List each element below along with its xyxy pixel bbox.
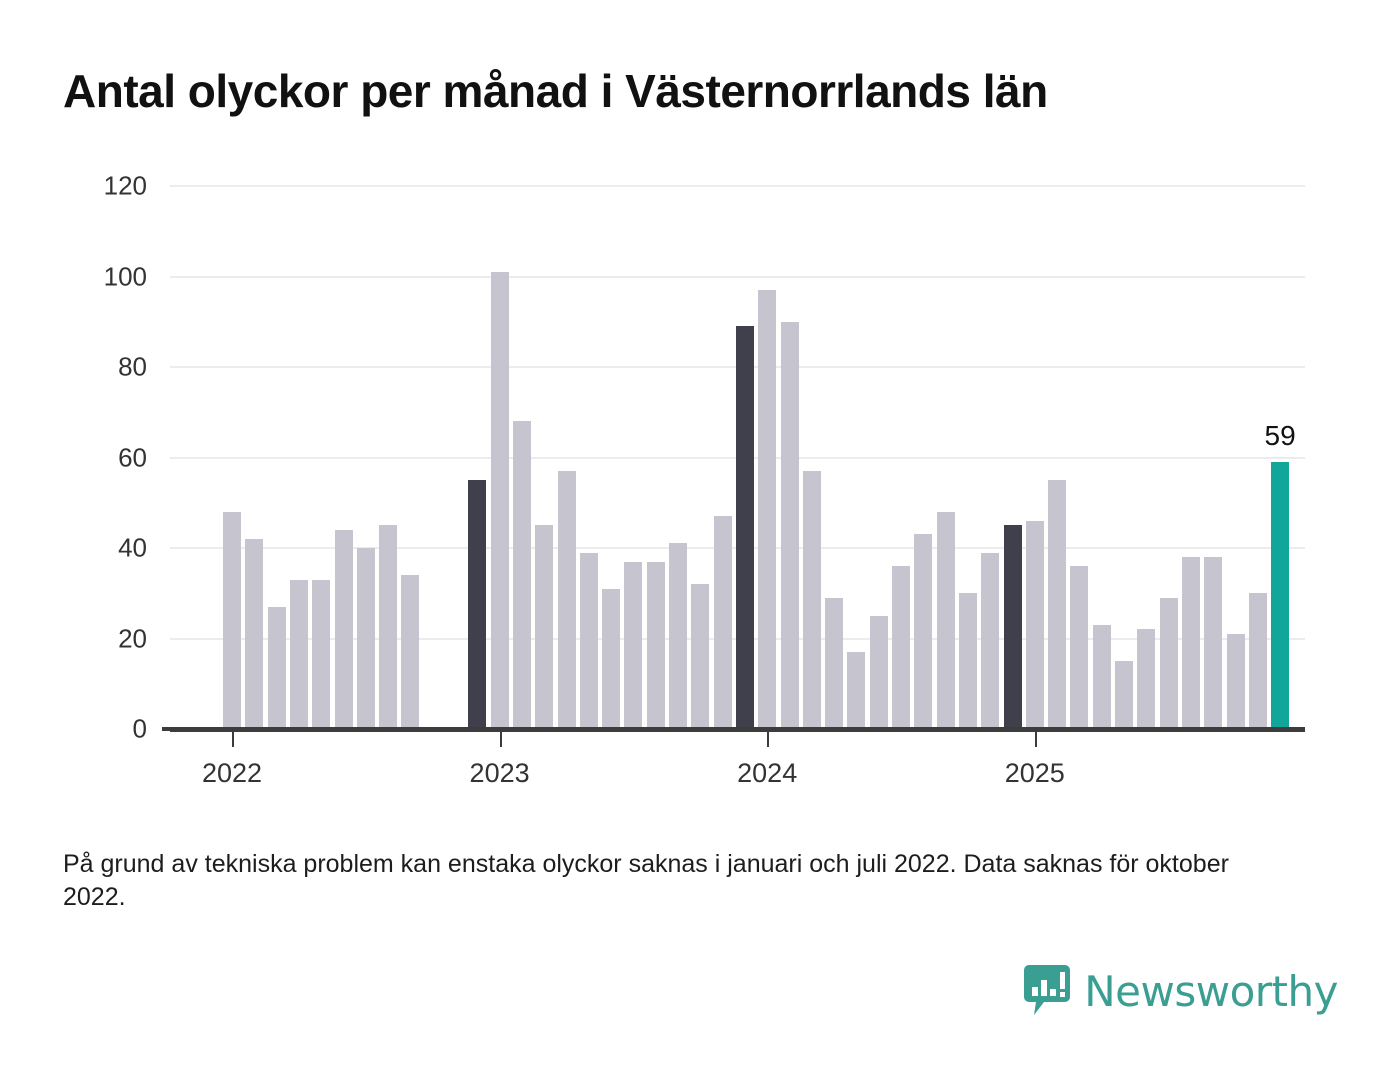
newsworthy-bar-chart-speech-bubble-icon xyxy=(1024,965,1070,1017)
bar-2024-12[interactable] xyxy=(1004,525,1022,729)
bar-2025-05[interactable] xyxy=(1115,661,1133,729)
bar-2024-08[interactable] xyxy=(914,534,932,729)
bar-2025-12[interactable] xyxy=(1271,462,1289,729)
x-axis-tick-label-2024: 2024 xyxy=(737,758,797,789)
newsworthy-logo: Newsworthy xyxy=(1024,965,1338,1017)
bar-2024-02[interactable] xyxy=(781,322,799,729)
chart-page: Antal olyckor per månad i Västernorrland… xyxy=(0,0,1400,1080)
bar-2024-01[interactable] xyxy=(758,290,776,729)
bar-2024-05[interactable] xyxy=(847,652,865,729)
bar-chart: 020406080100120 59 2022202320242025 xyxy=(0,150,1400,800)
bar-2023-07[interactable] xyxy=(624,562,642,729)
y-axis-tick-label: 40 xyxy=(118,533,147,564)
bar-2022-07[interactable] xyxy=(357,548,375,729)
bar-value-label: 59 xyxy=(1265,420,1296,452)
bar-2025-04[interactable] xyxy=(1093,625,1111,729)
bar-2025-01[interactable] xyxy=(1026,521,1044,729)
bar-series xyxy=(170,186,1305,729)
bar-2024-03[interactable] xyxy=(803,471,821,729)
x-axis-tick xyxy=(767,729,769,747)
bar-2023-09[interactable] xyxy=(669,543,687,729)
y-axis-tick-label: 120 xyxy=(104,171,147,202)
bar-2025-08[interactable] xyxy=(1182,557,1200,729)
bar-2022-06[interactable] xyxy=(335,530,353,729)
bar-2023-12[interactable] xyxy=(736,326,754,729)
y-axis-tick-label: 60 xyxy=(118,442,147,473)
bar-2025-02[interactable] xyxy=(1048,480,1066,729)
bar-2022-12[interactable] xyxy=(468,480,486,729)
bar-2025-06[interactable] xyxy=(1137,629,1155,729)
y-axis-tick-label: 80 xyxy=(118,352,147,383)
brand-name: Newsworthy xyxy=(1084,967,1338,1016)
plot-area: 020406080100120 59 2022202320242025 xyxy=(170,186,1305,729)
y-axis-tick-label: 0 xyxy=(133,714,147,745)
bar-2025-10[interactable] xyxy=(1227,634,1245,729)
bar-2025-07[interactable] xyxy=(1160,598,1178,729)
bar-2022-09[interactable] xyxy=(401,575,419,729)
bar-2024-07[interactable] xyxy=(892,566,910,729)
bar-2025-09[interactable] xyxy=(1204,557,1222,729)
bar-2023-08[interactable] xyxy=(647,562,665,729)
x-axis-tick-label-2023: 2023 xyxy=(470,758,530,789)
x-axis-tick-label-2025: 2025 xyxy=(1005,758,1065,789)
x-axis-line xyxy=(162,727,1305,731)
y-axis-tick-label: 100 xyxy=(104,261,147,292)
bar-2023-01[interactable] xyxy=(491,272,509,729)
bar-2023-02[interactable] xyxy=(513,421,531,729)
x-axis-tick xyxy=(500,729,502,747)
bar-2022-08[interactable] xyxy=(379,525,397,729)
bar-2023-10[interactable] xyxy=(691,584,709,729)
bar-2023-05[interactable] xyxy=(580,553,598,729)
bar-2022-01[interactable] xyxy=(223,512,241,729)
bar-2024-11[interactable] xyxy=(981,553,999,729)
x-axis-tick xyxy=(1035,729,1037,747)
bar-2023-03[interactable] xyxy=(535,525,553,729)
bar-2024-10[interactable] xyxy=(959,593,977,729)
bar-2025-03[interactable] xyxy=(1070,566,1088,729)
bar-2024-04[interactable] xyxy=(825,598,843,729)
bar-2022-03[interactable] xyxy=(268,607,286,729)
bar-2024-06[interactable] xyxy=(870,616,888,729)
x-axis-tick xyxy=(232,729,234,747)
bar-2023-11[interactable] xyxy=(714,516,732,729)
chart-caption: På grund av tekniska problem kan enstaka… xyxy=(63,848,1283,913)
bar-2023-06[interactable] xyxy=(602,589,620,729)
bar-2024-09[interactable] xyxy=(937,512,955,729)
bar-2022-04[interactable] xyxy=(290,580,308,729)
page-title: Antal olyckor per månad i Västernorrland… xyxy=(63,64,1048,118)
bar-2022-02[interactable] xyxy=(245,539,263,729)
bar-2022-05[interactable] xyxy=(312,580,330,729)
bar-2023-04[interactable] xyxy=(558,471,576,729)
y-axis-tick-label: 20 xyxy=(118,623,147,654)
bar-2025-11[interactable] xyxy=(1249,593,1267,729)
x-axis-tick-label-2022: 2022 xyxy=(202,758,262,789)
